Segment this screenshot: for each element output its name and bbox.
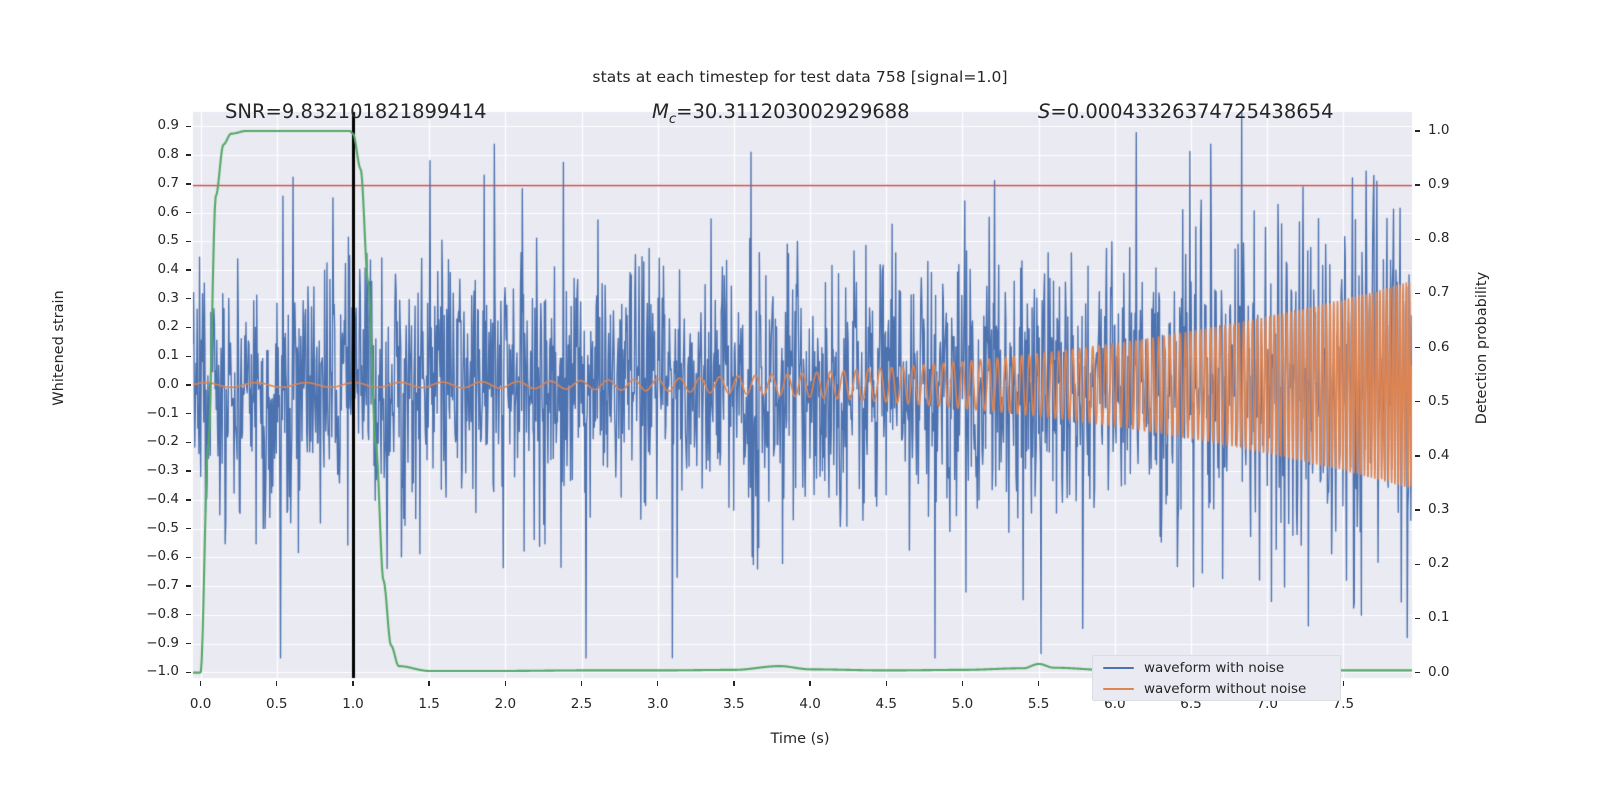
x-axis-label: Time (s) (0, 731, 1600, 747)
y-tickmark-left-4 (186, 241, 191, 242)
y-tickmark-right-6 (1415, 455, 1420, 456)
y-tick-left-15: −0.6 (125, 548, 179, 564)
legend: waveform with noisewaveform without nois… (1092, 655, 1341, 701)
y-tick-left-16: −0.7 (125, 577, 179, 593)
y-tick-right-3: 0.7 (1428, 284, 1482, 300)
y-tick-left-14: −0.5 (125, 520, 179, 536)
y-tickmark-left-16 (186, 585, 191, 586)
annotation-s-label: S (1038, 100, 1050, 123)
annotation-mc-equals: = (676, 100, 692, 123)
y-tick-left-2: 0.7 (125, 175, 179, 191)
x-tickmark-5 (581, 681, 582, 686)
y-tick-right-9: 0.1 (1428, 609, 1482, 625)
y-tickmark-left-5 (186, 269, 191, 270)
figure: stats at each timestep for test data 758… (0, 0, 1600, 800)
y-tick-left-8: 0.1 (125, 347, 179, 363)
x-tickmark-8 (809, 681, 810, 686)
y-tick-left-9: 0.0 (125, 376, 179, 392)
x-tick-0: 0.0 (171, 696, 231, 712)
x-tickmark-7 (733, 681, 734, 686)
y-tickmark-right-7 (1415, 509, 1420, 510)
y-tick-left-18: −0.9 (125, 635, 179, 651)
y-tickmark-right-9 (1415, 618, 1420, 619)
x-tick-7: 3.5 (704, 696, 764, 712)
x-tickmark-15 (1343, 681, 1344, 686)
y-tickmark-left-15 (186, 557, 191, 558)
x-tickmark-4 (505, 681, 506, 686)
y-tick-right-6: 0.4 (1428, 447, 1482, 463)
y-tickmark-left-17 (186, 614, 191, 615)
x-tickmark-11 (1038, 681, 1039, 686)
legend-label-1: waveform without noise (1144, 681, 1306, 697)
y-tickmark-left-13 (186, 499, 191, 500)
y-tickmark-left-18 (186, 643, 191, 644)
y-tick-right-1: 0.9 (1428, 176, 1482, 192)
annotation-s-equals: = (1050, 100, 1066, 123)
y-tick-left-6: 0.3 (125, 290, 179, 306)
x-tick-9: 4.5 (856, 696, 916, 712)
y-tick-left-13: −0.4 (125, 491, 179, 507)
y-tickmark-left-19 (186, 672, 191, 673)
y-tick-right-0: 1.0 (1428, 122, 1482, 138)
y-tick-right-8: 0.2 (1428, 555, 1482, 571)
x-tick-1: 0.5 (247, 696, 307, 712)
y-tickmark-right-1 (1415, 184, 1420, 185)
annotation-snr-value: 9.832101821899414 (282, 100, 487, 123)
y-tickmark-left-14 (186, 528, 191, 529)
y-tick-right-2: 0.8 (1428, 230, 1482, 246)
y-tick-left-7: 0.2 (125, 318, 179, 334)
y-tickmark-left-9 (186, 384, 191, 385)
x-tickmark-0 (200, 681, 201, 686)
annotation-mc-value: 30.311203002929688 (692, 100, 909, 123)
y-tickmark-left-12 (186, 470, 191, 471)
annotation-mc-label: M (652, 100, 669, 123)
x-tickmark-2 (352, 681, 353, 686)
legend-swatch-0 (1103, 667, 1134, 669)
legend-item-0[interactable]: waveform with noise (1103, 657, 1284, 679)
x-tickmark-6 (657, 681, 658, 686)
annotation-significance: S=0.00043326374725438654 (1038, 100, 1333, 123)
y-tickmark-right-4 (1415, 347, 1420, 348)
annotation-snr-label: SNR= (225, 100, 282, 123)
y-tick-left-5: 0.4 (125, 261, 179, 277)
x-tickmark-9 (886, 681, 887, 686)
y-tick-left-11: −0.2 (125, 433, 179, 449)
y-tick-left-17: −0.8 (125, 606, 179, 622)
y-tickmark-right-0 (1415, 130, 1420, 131)
annotation-snr: SNR=9.832101821899414 (225, 100, 487, 123)
y-tickmark-left-6 (186, 298, 191, 299)
y-tickmark-right-5 (1415, 401, 1420, 402)
y-tickmark-left-10 (186, 413, 191, 414)
y-tickmark-right-3 (1415, 293, 1420, 294)
y-tickmark-left-3 (186, 212, 191, 213)
y-tick-left-0: 0.9 (125, 117, 179, 133)
legend-item-1[interactable]: waveform without noise (1103, 678, 1306, 700)
x-tick-6: 3.0 (628, 696, 688, 712)
y-tick-right-10: 0.0 (1428, 664, 1482, 680)
y-tick-left-4: 0.5 (125, 232, 179, 248)
x-tick-2: 1.0 (323, 696, 383, 712)
x-tick-5: 2.5 (552, 696, 612, 712)
y-tickmark-right-2 (1415, 239, 1420, 240)
y-axis-label-left: Whitened strain (51, 238, 67, 458)
x-tickmark-1 (276, 681, 277, 686)
y-tick-left-19: −1.0 (125, 663, 179, 679)
y-tickmark-right-10 (1415, 672, 1420, 673)
x-tick-8: 4.0 (780, 696, 840, 712)
annotation-s-value: 0.00043326374725438654 (1067, 100, 1334, 123)
x-tick-11: 5.5 (1009, 696, 1069, 712)
y-tick-left-3: 0.6 (125, 204, 179, 220)
annotation-chirp-mass: Mc=30.311203002929688 (652, 100, 910, 127)
legend-swatch-1 (1103, 688, 1134, 690)
y-tickmark-left-0 (186, 126, 191, 127)
figure-title: stats at each timestep for test data 758… (0, 68, 1600, 86)
y-tickmark-left-2 (186, 183, 191, 184)
y-tick-right-5: 0.5 (1428, 393, 1482, 409)
y-tick-left-12: −0.3 (125, 462, 179, 478)
y-tickmark-left-7 (186, 327, 191, 328)
y-tickmark-left-8 (186, 356, 191, 357)
x-tick-3: 1.5 (399, 696, 459, 712)
y-tick-left-10: −0.1 (125, 405, 179, 421)
y-tick-right-7: 0.3 (1428, 501, 1482, 517)
y-tickmark-left-11 (186, 442, 191, 443)
x-tickmark-10 (962, 681, 963, 686)
y-tick-right-4: 0.6 (1428, 339, 1482, 355)
y-tickmark-right-8 (1415, 564, 1420, 565)
y-tick-left-1: 0.8 (125, 146, 179, 162)
legend-label-0: waveform with noise (1144, 660, 1284, 676)
x-tick-4: 2.0 (475, 696, 535, 712)
y-tickmark-left-1 (186, 154, 191, 155)
x-tickmark-3 (428, 681, 429, 686)
x-tick-10: 5.0 (932, 696, 992, 712)
